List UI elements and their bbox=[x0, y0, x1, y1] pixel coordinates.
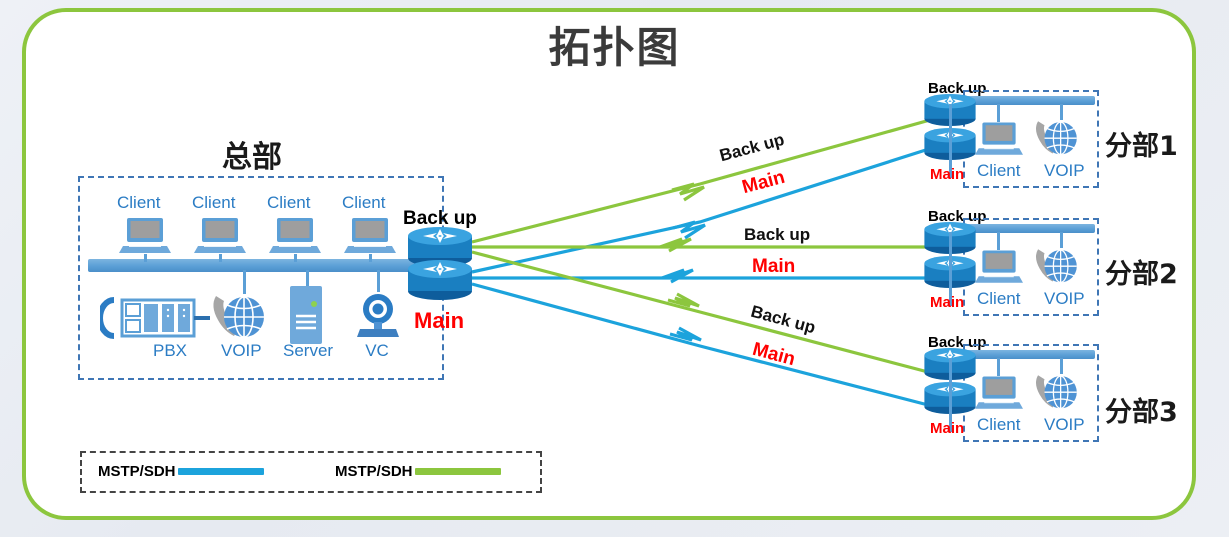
branch-3-voip-label: VOIP bbox=[1044, 416, 1078, 434]
branch-3-client-label: Client bbox=[977, 416, 1019, 434]
hq-client-2-drop bbox=[219, 254, 222, 262]
laptop-icon bbox=[975, 120, 1023, 160]
hq-heading: 总部 bbox=[222, 132, 282, 176]
hq-client-4-drop bbox=[369, 254, 372, 262]
voip-globe-icon bbox=[1030, 116, 1080, 162]
laptop-icon bbox=[975, 374, 1023, 414]
hq-client-3-label: Client bbox=[267, 194, 305, 212]
pbx-icon bbox=[100, 294, 210, 342]
topology-stage: 拓扑图 总部 bbox=[0, 0, 1229, 537]
voip-globe-icon bbox=[206, 290, 268, 346]
hq-main-router-label: Main bbox=[414, 308, 464, 334]
branch-2-client-label: Client bbox=[977, 290, 1019, 308]
branch-2-main-router-label: Main bbox=[930, 294, 964, 311]
branch-1-voip-label: VOIP bbox=[1044, 162, 1078, 180]
branch-2-bus-bar bbox=[963, 224, 1095, 233]
branch-2-heading: 分部2 bbox=[1105, 252, 1178, 291]
branch-2-main-link-label: Main bbox=[752, 256, 795, 278]
laptop-icon bbox=[975, 248, 1023, 288]
legend-item-main: MSTP/SDH bbox=[98, 463, 264, 480]
branch-1-heading: 分部1 bbox=[1105, 124, 1178, 163]
hq-vc-drop bbox=[377, 270, 380, 292]
laptop-icon bbox=[344, 216, 396, 258]
hq-client-2-label: Client bbox=[192, 194, 230, 212]
branch-2-voip-drop bbox=[1060, 232, 1063, 248]
voip-globe-icon bbox=[1030, 370, 1080, 416]
branch-3-bus-bar bbox=[963, 350, 1095, 359]
legend-item-backup-swatch bbox=[415, 468, 501, 475]
laptop-icon bbox=[194, 216, 246, 258]
hq-server-drop bbox=[306, 270, 309, 286]
branch-3-heading: 分部3 bbox=[1105, 390, 1178, 429]
branch-3-client-drop bbox=[997, 358, 1000, 376]
branch-2-voip-label: VOIP bbox=[1044, 290, 1078, 308]
branch-1-bus-bar bbox=[963, 96, 1095, 105]
hq-client-1-drop bbox=[144, 254, 147, 262]
hq-voip-drop bbox=[243, 270, 246, 294]
legend-item-backup: MSTP/SDH bbox=[335, 463, 501, 480]
laptop-icon bbox=[119, 216, 171, 258]
hq-bus-bar bbox=[88, 259, 446, 272]
hq-client-4-label: Client bbox=[342, 194, 380, 212]
video-camera-icon bbox=[352, 290, 404, 342]
hq-vc-label: VC bbox=[360, 342, 394, 360]
branch-1-client-drop bbox=[997, 104, 1000, 122]
branch-2-client-drop bbox=[997, 232, 1000, 250]
branch-2-backup-link-label: Back up bbox=[744, 225, 810, 245]
hq-client-1-label: Client bbox=[117, 194, 155, 212]
hq-client-3-drop bbox=[294, 254, 297, 262]
hq-voip-label: VOIP bbox=[221, 342, 255, 360]
branch-1-voip-drop bbox=[1060, 104, 1063, 120]
laptop-icon bbox=[269, 216, 321, 258]
server-icon bbox=[288, 284, 326, 346]
hq-server-label: Server bbox=[283, 342, 331, 360]
branch-3-main-router-label: Main bbox=[930, 420, 964, 437]
legend-item-main-swatch bbox=[178, 468, 264, 475]
legend-item-backup-label: MSTP/SDH bbox=[335, 463, 413, 480]
branch-1-main-router-label: Main bbox=[930, 166, 964, 183]
legend-item-main-label: MSTP/SDH bbox=[98, 463, 176, 480]
branch-3-voip-drop bbox=[1060, 358, 1063, 374]
voip-globe-icon bbox=[1030, 244, 1080, 290]
router-icon bbox=[405, 258, 475, 302]
hq-pbx-label: PBX bbox=[148, 342, 192, 360]
branch-1-client-label: Client bbox=[977, 162, 1019, 180]
